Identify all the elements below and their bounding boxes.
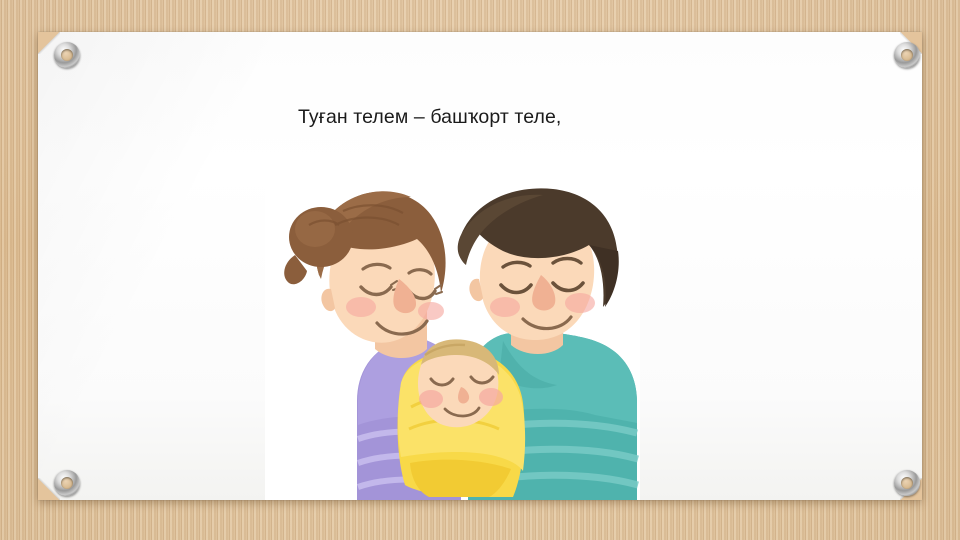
grommet-top-right [894,42,920,68]
grommet-hole [61,49,73,61]
grommet-hole [901,477,913,489]
grommet-hole [901,49,913,61]
family-illustration [265,167,640,500]
family-illustration-svg [265,167,640,500]
slide-canvas: Туған телем – башҡорт теле, Башҡа телде … [0,0,960,540]
poem-line-1: Туған телем – башҡорт теле, [298,103,561,133]
grommet-bottom-right [894,470,920,496]
grommet-bottom-left [54,470,80,496]
grommet-top-left [54,42,80,68]
grommet-hole [61,477,73,489]
